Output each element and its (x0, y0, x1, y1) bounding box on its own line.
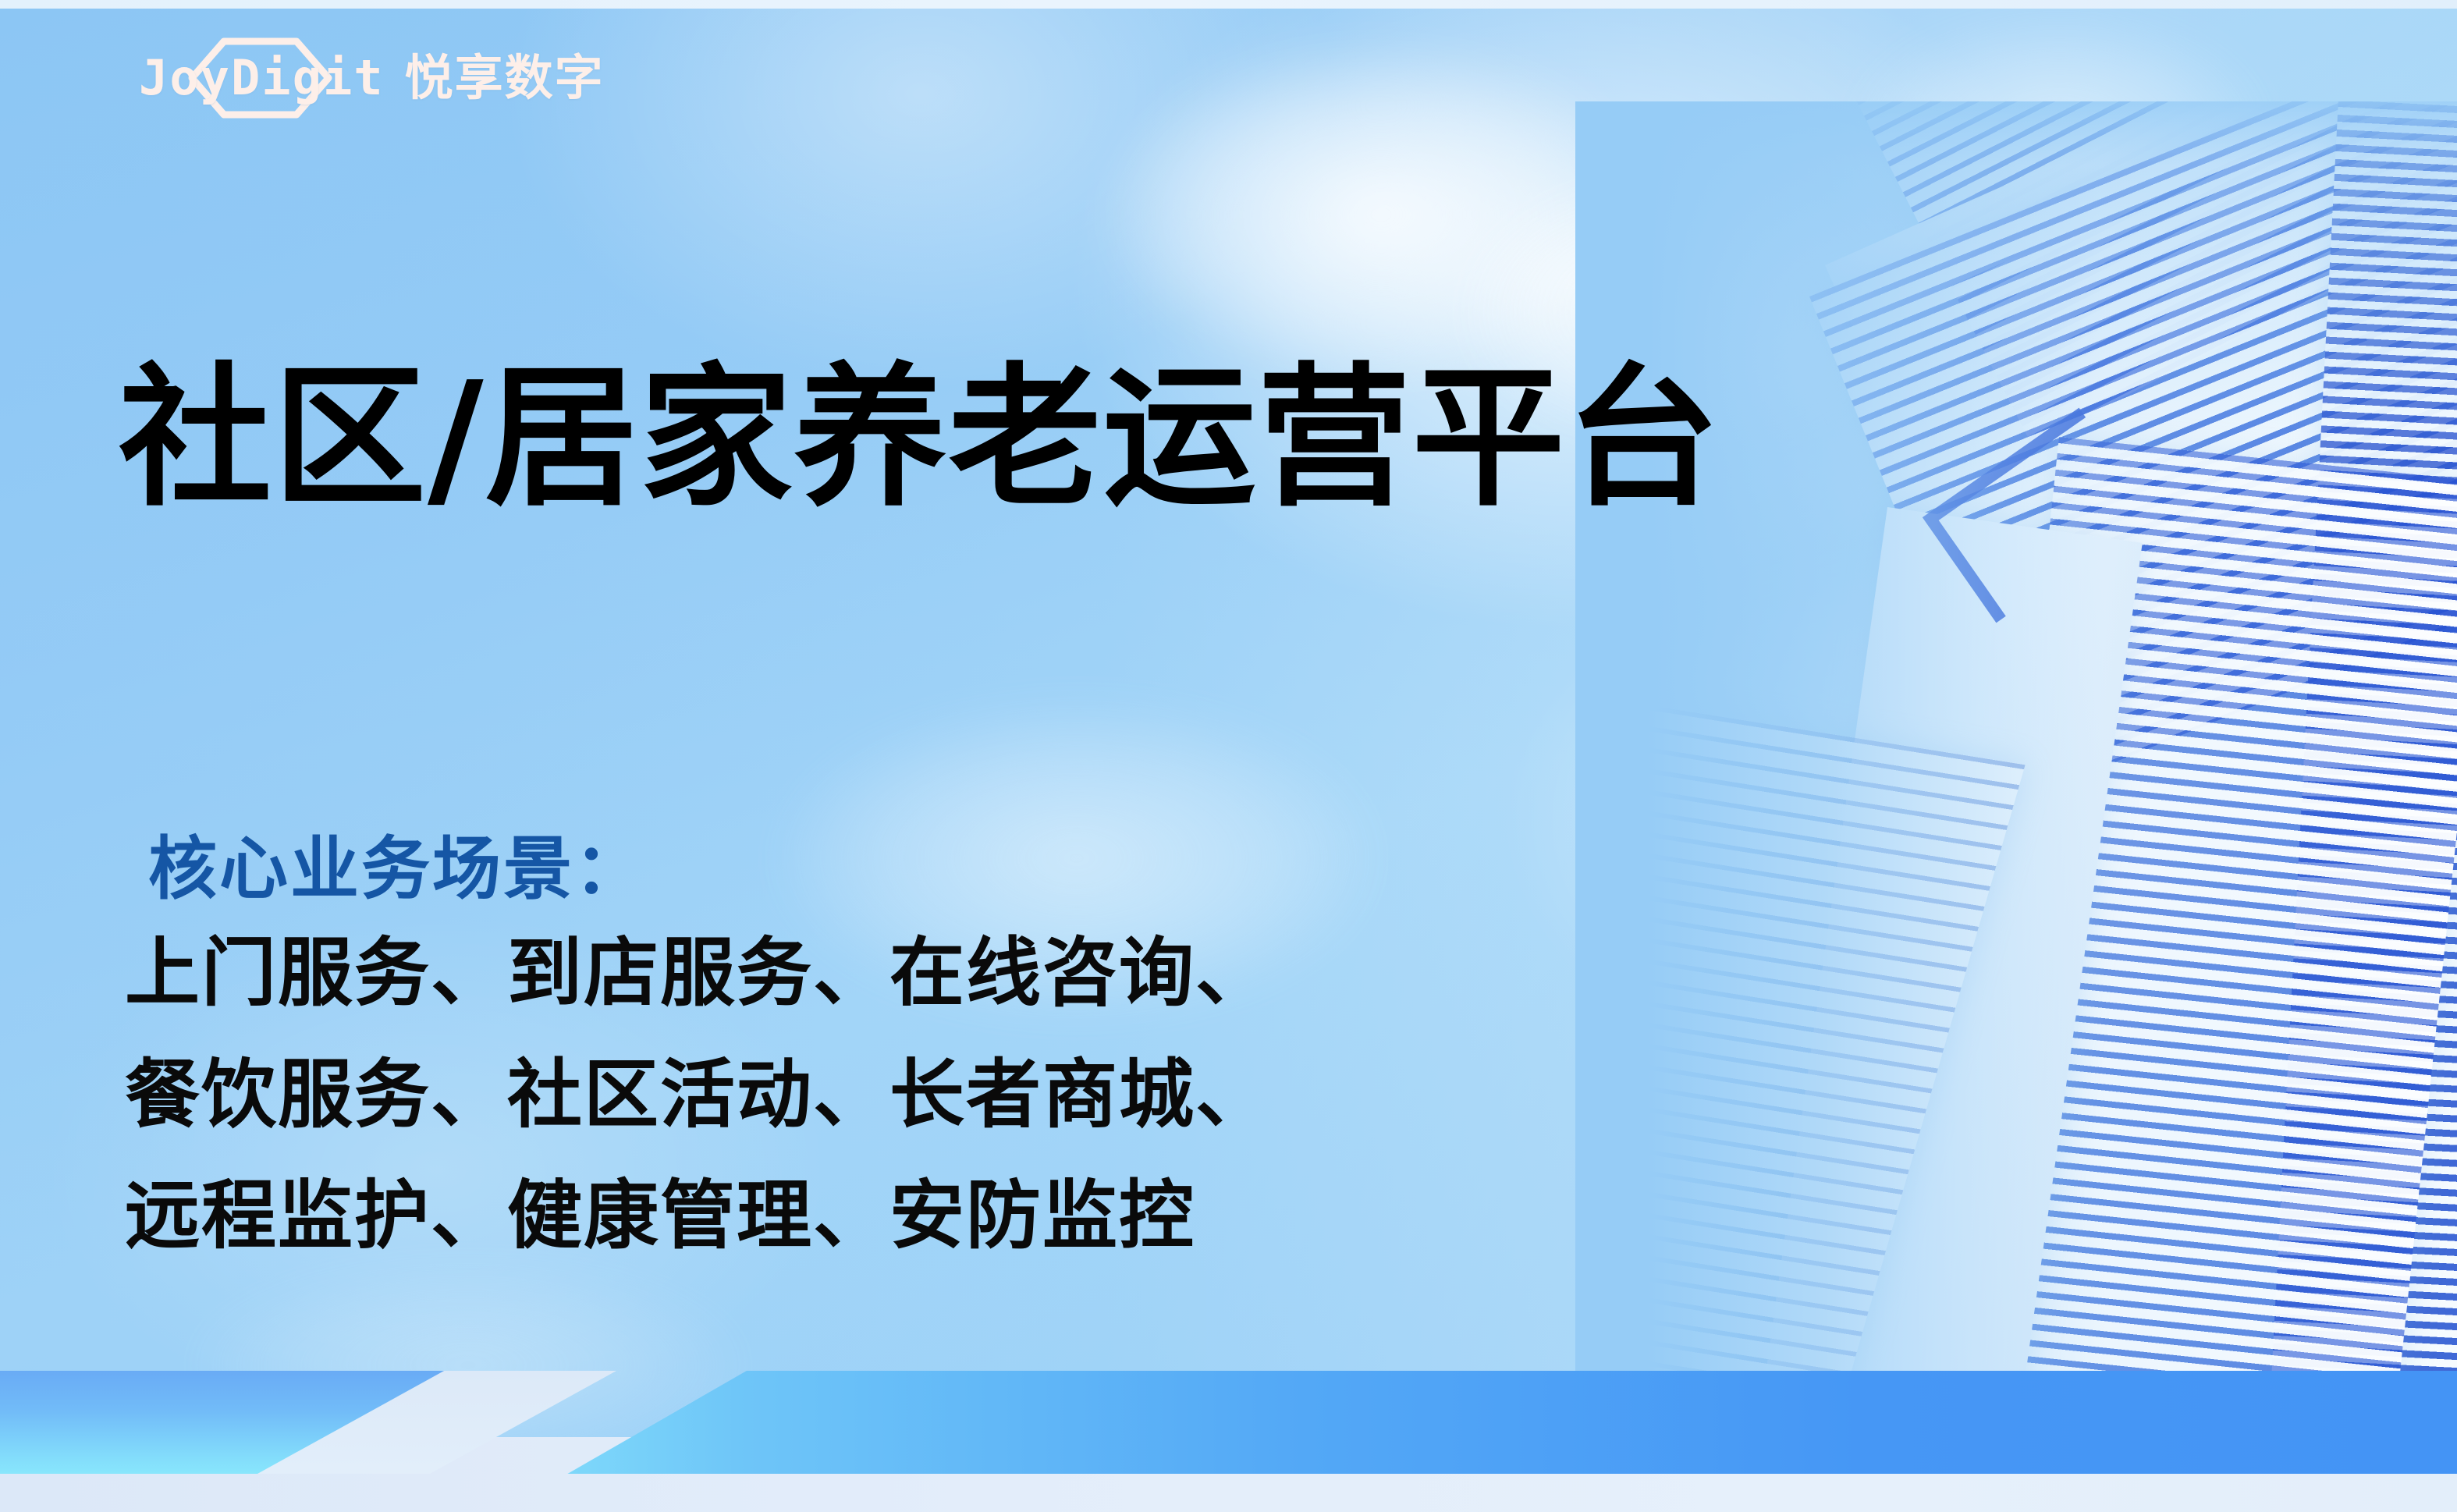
logo-wordmark: JoyDigit (139, 54, 385, 102)
top-edge-strip (0, 0, 2457, 9)
bottom-decorative-band (0, 1371, 2457, 1474)
scenario-line-3: 远程监护、健康管理、安防监控 (125, 1155, 1272, 1277)
scenario-line-2: 餐饮服务、社区活动、长者商城、 (125, 1035, 1272, 1156)
brand-logo: JoyDigit 悦享数字 (139, 41, 605, 115)
section-heading: 核心业务场景： (148, 828, 645, 910)
sky-wash-overlay (0, 0, 2457, 1512)
slide-canvas: JoyDigit 悦享数字 社区/居家养老运营平台 核心业务场景： 上门服务、到… (0, 0, 2457, 1512)
business-scenarios-list: 上门服务、到店服务、在线咨询、 餐饮服务、社区活动、长者商城、 远程监护、健康管… (125, 913, 1272, 1277)
page-title: 社区/居家养老运营平台 (119, 353, 1721, 525)
logo-chinese-name: 悦享数字 (405, 54, 605, 102)
band-segment-right (468, 1371, 2457, 1474)
scenario-line-1: 上门服务、到店服务、在线咨询、 (125, 913, 1272, 1035)
